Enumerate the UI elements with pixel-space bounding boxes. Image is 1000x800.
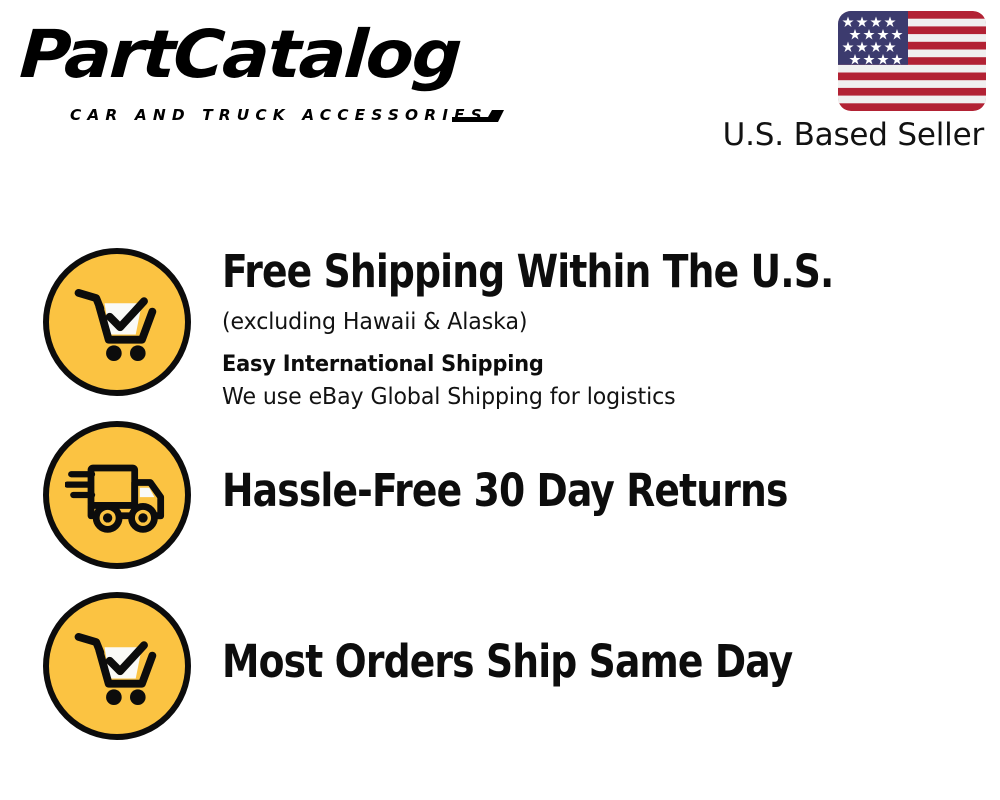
- feature-row-free-shipping: Free Shipping Within The U.S. (excluding…: [0, 248, 1000, 413]
- feature-headline: Free Shipping Within The U.S.: [222, 246, 929, 298]
- partcatalog-logo[interactable]: PartCatalog CAR AND TRUCK ACCESSORIES: [22, 18, 492, 113]
- logo-swash-icon: [450, 108, 506, 124]
- shopping-cart-check-icon: [43, 248, 191, 396]
- header-bar: PartCatalog CAR AND TRUCK ACCESSORIES: [0, 0, 1000, 175]
- feature-international-title: Easy International Shipping: [222, 348, 944, 381]
- feature-headline: Hassle-Free 30 Day Returns: [222, 465, 929, 517]
- feature-international-desc: We use eBay Global Shipping for logistic…: [222, 381, 952, 413]
- feature-row-returns: Hassle-Free 30 Day Returns: [0, 421, 1000, 571]
- feature-text-same-day: Most Orders Ship Same Day: [222, 636, 982, 688]
- feature-text-returns: Hassle-Free 30 Day Returns: [222, 465, 982, 517]
- brand-tagline: CAR AND TRUCK ACCESSORIES: [70, 106, 488, 124]
- delivery-truck-icon: [43, 421, 191, 569]
- us-flag-icon: [838, 11, 986, 111]
- feature-headline: Most Orders Ship Same Day: [222, 636, 929, 688]
- feature-text-free-shipping: Free Shipping Within The U.S. (excluding…: [222, 248, 982, 413]
- us-based-seller-label: U.S. Based Seller: [723, 116, 984, 154]
- feature-subline-exclusions: (excluding Hawaii & Alaska): [222, 306, 952, 338]
- feature-row-same-day-shipping: Most Orders Ship Same Day: [0, 592, 1000, 742]
- shopping-cart-check-icon: [43, 592, 191, 740]
- brand-wordmark: PartCatalog: [18, 18, 462, 92]
